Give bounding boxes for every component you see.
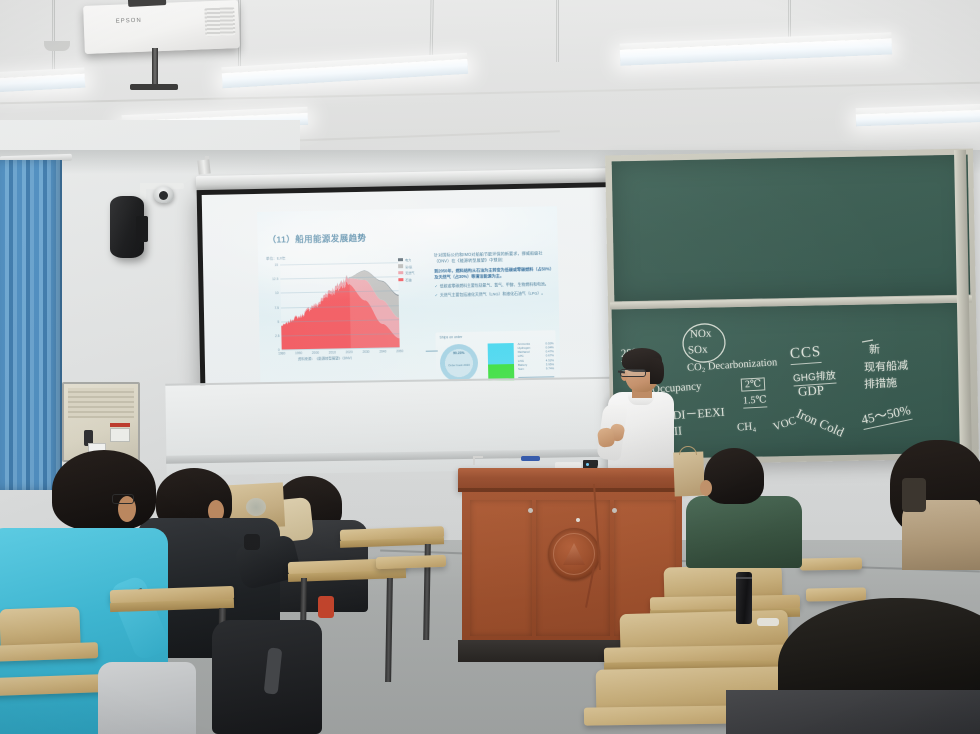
lecture-hall-photo: EPSON （11）船用能源发展趋势 单位：EJ/年 [0,0,980,734]
chalk-bracket-ellipse [681,322,727,364]
slide-text-column: 针对国际公约和IMO对船舶节能环保的新要求，挪威船级社（DNV）在《能源转型展望… [434,250,553,298]
ships-legend-label: Sum [518,367,524,371]
bottle-red [318,596,334,618]
chalk-note-existing-ship-1: 现有船减 [864,357,909,375]
desk-surface [376,555,446,569]
chalk-note-ch4: CH₄ [737,420,757,433]
chart-plot-area: 02.557.51012.515198019902000201020202030… [280,262,400,349]
chart-legend-label: 电力 [405,257,411,262]
slide-bullet-1: ✓ 低碳或零碳燃料主要包括氨气、氢气、甲醇、生物燃料和电池。 [434,282,552,290]
desk-surface [806,587,866,601]
thermos-ring [736,577,752,579]
thermos-bottle [736,572,752,624]
blackboard-upper-panel [612,155,971,302]
lamp-hanger-rod [556,0,559,62]
podium-screw [612,508,617,513]
chart-legend-item: 石油 [398,276,430,282]
check-icon: ✓ [434,284,437,290]
chart-legend-item: 电力 [398,257,430,263]
ships-on-order-legend: Ammonia0.02%Hydrogen0.04%Methanol0.47%LP… [518,341,555,371]
projector-mount-plate [130,84,178,90]
cabinet-warning-stripe [110,423,130,427]
chalk-note-ccs: CCS [789,344,822,365]
chart-legend-item: 氢/氨 [398,263,430,269]
projector-vent [204,7,235,36]
speaker-bracket [136,216,148,242]
chart-legend-label: 石油 [405,277,411,282]
paper-bag-print [246,498,266,516]
cabinet-label [110,428,130,442]
student-far-right-collar [902,478,926,512]
chart-y-tick: 7.5 [274,305,279,309]
podium-top [458,468,686,490]
small-white-object [757,618,779,626]
chart-x-tick: 2040 [379,349,386,353]
camera-lens [159,191,168,200]
chart-legend-swatch [398,278,403,281]
chart-legend-swatch [398,271,403,274]
chart-y-tick: 15 [274,263,278,267]
lamp-hanger-rod [52,0,55,78]
chart-x-tick: 2020 [346,350,353,354]
chalk-dash-marks [862,320,888,350]
donut-leader-line [426,350,438,351]
chart-legend-label: 天然气 [405,270,414,275]
blue-desk-item[interactable] [521,456,540,461]
presenter-hair-side [650,358,664,384]
chart-y-tick: 12.5 [272,277,278,281]
chalk-note-existing-ship-2: 排措施 [864,374,898,392]
chart-x-tick: 2000 [312,350,319,354]
ships-on-order-donut-percent: 90.23% [444,351,474,356]
presenter-left-hand [597,427,615,448]
student-right-green-torso [686,496,802,568]
student-right-green-hair [704,448,764,504]
podium-hook [473,456,483,465]
bar-segment-cyan [488,343,514,365]
podium-fastener [576,518,580,522]
chart-x-tick: 2010 [329,350,336,354]
slide-bullet-1-text: 低碳或零碳燃料主要包括氨气、氢气、甲醇、生物燃料和电池。 [440,282,549,290]
student-right-green-ear [700,480,712,496]
student-front-left-hair [52,450,156,530]
chart-x-tick: 2030 [362,349,369,353]
chart-legend-label: 氢/氨 [405,264,412,269]
chart-legend-item: 天然气 [398,270,430,276]
glasses-icon [112,494,134,504]
slide-paragraph-1: 针对国际公约和IMO对船舶节能环保的新要求，挪威船级社（DNV）在《能源转型展望… [434,250,552,265]
chart-x-tick: 2050 [396,349,403,353]
energy-area-chart: 单位：EJ/年 02.557.51012.5151980199020002010… [266,254,408,372]
ceiling-projector: EPSON [83,0,240,54]
chart-y-axis-label: 单位：EJ/年 [266,256,286,261]
speaker-mount-arm-vertical [140,183,146,199]
chalk-note-gdp: GDP [797,382,824,400]
ships-legend-value: 9.74% [546,366,554,370]
chalk-note-2c: 2℃ [741,377,766,391]
chart-legend-swatch [398,258,403,261]
chart-legend-swatch [398,265,403,268]
console-led-indicator [586,463,589,466]
slide-title: （11）船用能源发展趋势 [267,232,366,246]
screen-hook [197,159,210,174]
student-foreground-r-shoulders [726,690,980,734]
chart-legend: 电力氢/氨天然气石油 [398,257,431,284]
ships-on-order-title: Ships on order [439,335,462,339]
podium-panel-left [470,500,532,636]
ships-on-order-donut-caption: Order book 2020 [440,364,478,368]
desk-surface [800,557,862,570]
projector-brand-label: EPSON [116,18,142,25]
podium-screw [528,508,533,513]
chart-x-tick: 1990 [295,351,302,355]
projector-mount-pole [152,48,158,86]
chart-y-tick: 10 [275,291,279,295]
projector-lens [44,41,70,51]
window-curtain[interactable] [0,160,62,490]
bag-light [98,662,196,734]
slide-bullet-2-text: 天然气主要包括液化天然气（LNG）和液化石油气（LPG）。 [440,291,545,299]
chalk-note-1-5c: 1.5℃ [743,394,767,408]
smartphone[interactable] [244,534,260,550]
chart-y-tick: 2.5 [275,334,280,338]
check-icon: ✓ [435,293,438,299]
chart-source-caption: 资料来源：《能源转型展望》（DNV） [298,355,354,361]
chart-x-tick: 1980 [278,351,285,355]
slide-bullet-2: ✓ 天然气主要包括液化天然气（LNG）和液化石油气（LPG）。 [435,291,553,299]
ships-legend-row: Sum9.74% [518,366,554,371]
slide-paragraph-2: 到2050年，燃料结构从石油为主转变为低碳或零碳燃料（占50%）及天然气（占30… [434,266,552,281]
chart-y-tick: 5 [277,320,279,324]
cabinet-louver-vent [68,388,134,418]
